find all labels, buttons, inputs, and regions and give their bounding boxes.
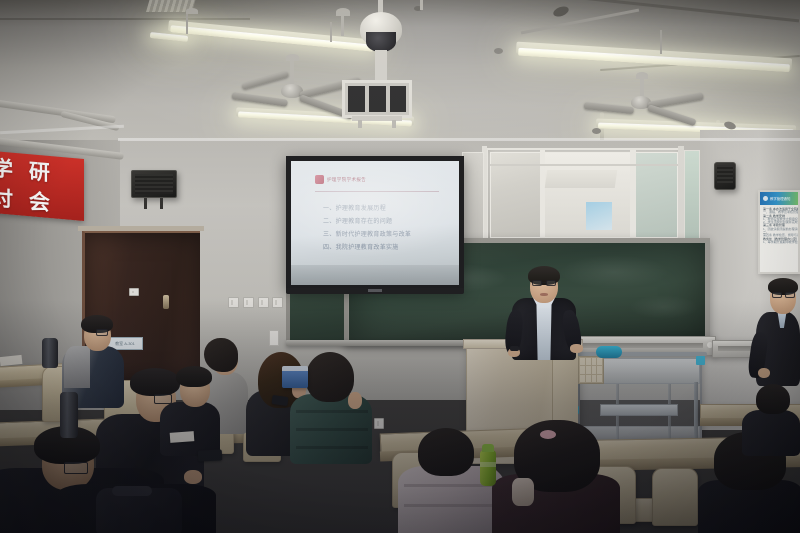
control-button[interactable]: [580, 375, 585, 382]
notice-poster: 教学管理通知 第一条 本办法适用于全院教学活动 一、课程、教学及考核管理要求 第…: [758, 190, 800, 274]
presenter-mouth: [540, 293, 548, 296]
water-bottle[interactable]: [480, 450, 496, 486]
puffer-seam: [404, 504, 498, 507]
blue-storage-box: [282, 368, 308, 388]
projector-cage-cell: [369, 86, 386, 112]
light-hanger-rod: [660, 30, 662, 54]
poster-row: 1、每学期开展期中教学检查工作: [763, 241, 796, 244]
attendee-torso: [160, 402, 220, 456]
wall-panel: [462, 152, 484, 240]
slide-line: 二、护理教育存在的问题: [323, 216, 392, 225]
control-button[interactable]: [592, 358, 597, 365]
security-camera-lens: [366, 32, 396, 52]
attendee-hair: [418, 428, 474, 476]
interior-window: [486, 148, 682, 240]
corridor-daylight-patch: [586, 202, 612, 230]
ceiling-rod: [341, 14, 344, 36]
light-hanger-rod: [186, 14, 188, 34]
banner-text: 学 研 讨 会: [0, 152, 84, 220]
window-transom: [490, 164, 680, 166]
control-button[interactable]: [597, 358, 602, 365]
projector-mount-pole: [375, 50, 387, 82]
projector-cage-cell: [348, 86, 365, 112]
poster-body: 第一条 本办法适用于全院教学活动 一、课程、教学及考核管理要求 第二条 教学安排…: [763, 208, 796, 270]
seat-back: [652, 468, 698, 526]
ceiling-fixture: [494, 48, 503, 54]
fan-canopy: [636, 72, 648, 79]
control-button[interactable]: [597, 366, 602, 373]
ceiling-seam: [0, 18, 250, 20]
door-handle[interactable]: [163, 295, 169, 309]
poster-logo-icon: [763, 196, 768, 201]
backpack-strap: [112, 486, 152, 496]
attendee-glasses: [96, 329, 108, 336]
observer-hand: [758, 368, 770, 378]
ceiling-rod: [420, 0, 423, 10]
ceiling-fixture: [592, 128, 601, 134]
control-button[interactable]: [592, 366, 597, 373]
puffer-seam: [296, 428, 368, 431]
puffer-seam: [296, 410, 368, 413]
attendee-hand: [348, 392, 362, 409]
slide-header: 护理学院学术报告: [315, 175, 366, 184]
control-button[interactable]: [597, 375, 602, 382]
thermos-flask[interactable]: [42, 338, 58, 368]
chalk-smudge: [629, 295, 699, 319]
slide-divider: [315, 191, 439, 192]
wall-outlet[interactable]: [228, 297, 239, 308]
presenter: [498, 262, 590, 362]
smartphone-on-desk[interactable]: [198, 449, 223, 461]
slide-org-name: 护理学院学术报告: [327, 177, 366, 183]
wall-speaker-right: [714, 162, 736, 190]
observer-glasses-right-lens: [785, 292, 795, 298]
thermos-flask[interactable]: [60, 392, 78, 438]
presentation-remote[interactable]: [510, 346, 519, 351]
screen-shadow-band: [291, 265, 459, 285]
wall-outlet[interactable]: [243, 297, 254, 308]
projector-cage-cell: [390, 86, 406, 112]
slide-line: 一、护理教育发展历程: [323, 203, 386, 212]
presenter-glasses-left-lens: [532, 280, 542, 286]
speaker-grille: [135, 174, 173, 194]
hair-tie: [540, 430, 556, 439]
control-button[interactable]: [586, 366, 591, 373]
wall-ceiling-trim: [118, 138, 800, 141]
water-bottle-cap[interactable]: [482, 444, 494, 452]
attendee-maroon-coat: [492, 424, 624, 533]
ceiling-fixture-cup: [186, 8, 198, 14]
attendee-torso: [742, 410, 800, 456]
wall-plate: [269, 330, 279, 346]
paper-sheet[interactable]: [170, 431, 195, 443]
light-hanger-rod: [330, 22, 332, 42]
projector-mount-bolt: [392, 120, 396, 128]
blue-storage-box-lid: [282, 366, 308, 371]
puffer-seam: [296, 446, 368, 449]
attendee-hair: [756, 384, 790, 414]
projection-screen-surface: 护理学院学术报告 一、护理教育发展历程 二、护理教育存在的问题 三、新时代护理教…: [291, 161, 459, 285]
slide-line: 三、新时代护理教育政策与改革: [323, 229, 411, 238]
attendee-far-right: [742, 384, 800, 454]
attendee-hood: [64, 346, 90, 388]
speaker-grille: [717, 165, 733, 183]
speaker-bracket: [160, 198, 163, 209]
poster-header: 教学管理通知: [760, 192, 798, 205]
control-button[interactable]: [586, 375, 591, 382]
door-frame-top: [78, 226, 204, 231]
screen-roller-handle[interactable]: [368, 289, 382, 292]
attendee-scarf: [512, 478, 534, 506]
presenter-glasses-right-lens: [546, 280, 556, 286]
classroom-lecture-scene: 学 研 讨 会 教室 A-301: [0, 0, 800, 533]
cart-drawer[interactable]: [600, 404, 678, 416]
standing-observer: [752, 276, 800, 386]
attendee-hair: [176, 366, 212, 387]
control-button[interactable]: [592, 375, 597, 382]
corridor-ceiling-panel: [545, 170, 618, 188]
speaker-bracket: [144, 198, 147, 209]
fan-canopy: [286, 54, 299, 61]
wall-switch[interactable]: [129, 288, 139, 296]
wall-outlet[interactable]: [272, 297, 283, 308]
wall-speaker-left: [131, 170, 177, 198]
attendee-hair: [306, 352, 354, 402]
control-button[interactable]: [580, 366, 585, 373]
window-side-glass: [684, 150, 700, 242]
slide-logo-icon: [315, 175, 324, 184]
projector-mount-bolt: [358, 120, 362, 128]
presenter-glasses-bridge: [542, 282, 546, 283]
wall-outlet[interactable]: [258, 297, 269, 308]
cart-corner-bumper: [696, 356, 705, 365]
slide-line: 四、我院护理教育改革实施: [323, 242, 399, 251]
water-bottle-label: [480, 462, 496, 467]
presenter-right-hand: [570, 344, 583, 353]
projector-cage: [342, 80, 412, 118]
poster-title: 教学管理通知: [770, 196, 790, 201]
seminar-banner: 学 研 讨 会: [0, 151, 84, 221]
projection-screen: 护理学院学术报告 一、护理教育发展历程 二、护理教育存在的问题 三、新时代护理教…: [286, 156, 464, 290]
cart-blue-container[interactable]: [596, 346, 622, 358]
observer-glasses-left-lens: [772, 292, 782, 298]
